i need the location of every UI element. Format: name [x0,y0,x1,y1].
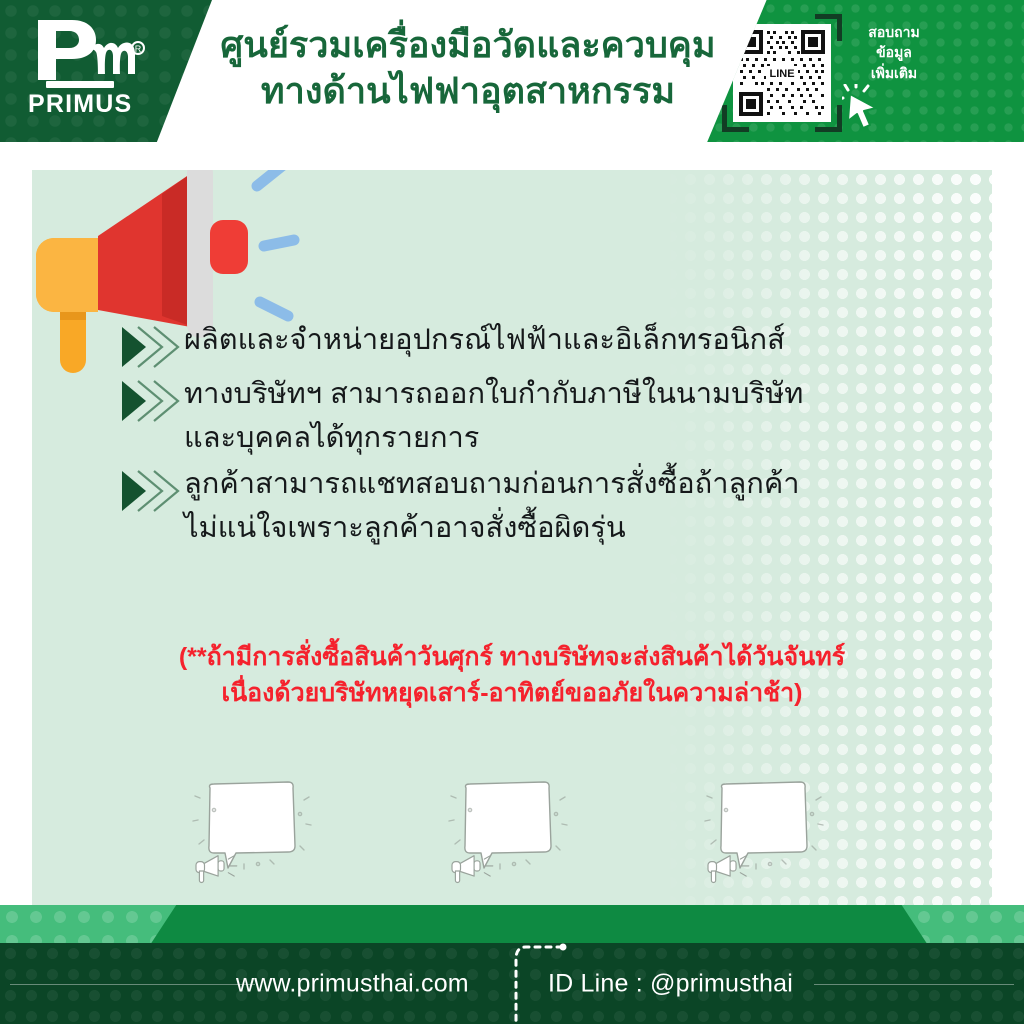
triple-chevron-icon [118,324,184,370]
qr-caption-line1: สอบถาม [846,22,942,42]
qr-caption: สอบถาม ข้อมูล เพิ่มเติม [846,22,942,83]
svg-text:LINE: LINE [769,68,794,80]
list-item: ทางบริษัทฯ สามารถออกใบกำกับภาษีในนามบริษ… [118,372,918,460]
header-title-line1: ศูนย์รวมเครื่องมือวัดและควบคุม [168,22,768,68]
logo-wordmark: PRIMUS [28,90,148,119]
header: R PRIMUS ศูนย์รวมเครื่องมือวัดและควบคุม … [0,0,1024,142]
primus-logo: R PRIMUS [28,18,148,123]
list-item-text: ผลิตและจำหน่ายอุปกรณ์ไฟฟ้าและอิเล็กทรอนิ… [184,318,918,362]
svg-text:R: R [135,44,142,54]
shipping-note: (**ถ้ามีการสั่งซื้อสินค้าวันศุกร์ ทางบริ… [32,640,992,711]
footer-band-mid [150,905,1024,945]
speech-bubble-decoration [192,780,832,890]
list-item: ผลิตและจำหน่ายอุปกรณ์ไฟฟ้าและอิเล็กทรอนิ… [118,318,918,370]
footer-bar: www.primusthai.com ID Line : @primusthai [0,943,1024,1024]
footer-line-id[interactable]: ID Line : @primusthai [548,969,793,998]
logo-underline [46,81,114,88]
list-item-text: ทางบริษัทฯ สามารถออกใบกำกับภาษีในนามบริษ… [184,372,918,460]
header-title-line2: ทางด้านไฟฟาอุตสาหกรรม [168,68,768,114]
qr-caption-line2: ข้อมูล [846,42,942,62]
bullet-list: ผลิตและจำหน่ายอุปกรณ์ไฟฟ้าและอิเล็กทรอนิ… [118,318,918,552]
list-item: ลูกค้าสามารถแชทสอบถามก่อนการสั่งซื้อถ้าล… [118,462,918,550]
triple-chevron-icon [118,468,184,514]
pm-monogram-icon: R [28,18,148,82]
content-panel: ผลิตและจำหน่ายอุปกรณ์ไฟฟ้าและอิเล็กทรอนิ… [32,170,992,915]
poster-canvas: R PRIMUS ศูนย์รวมเครื่องมือวัดและควบคุม … [0,0,1024,1024]
footer-rule-right [814,984,1014,985]
list-item-text: ลูกค้าสามารถแชทสอบถามก่อนการสั่งซื้อถ้าล… [184,462,918,550]
footer-website[interactable]: www.primusthai.com [236,969,469,998]
mouse-cursor-icon [842,84,894,132]
footer-rule-left [10,984,255,985]
header-title: ศูนย์รวมเครื่องมือวัดและควบคุม ทางด้านไฟ… [168,22,768,114]
qr-caption-line3: เพิ่มเติม [846,63,942,83]
triple-chevron-icon [118,378,184,424]
